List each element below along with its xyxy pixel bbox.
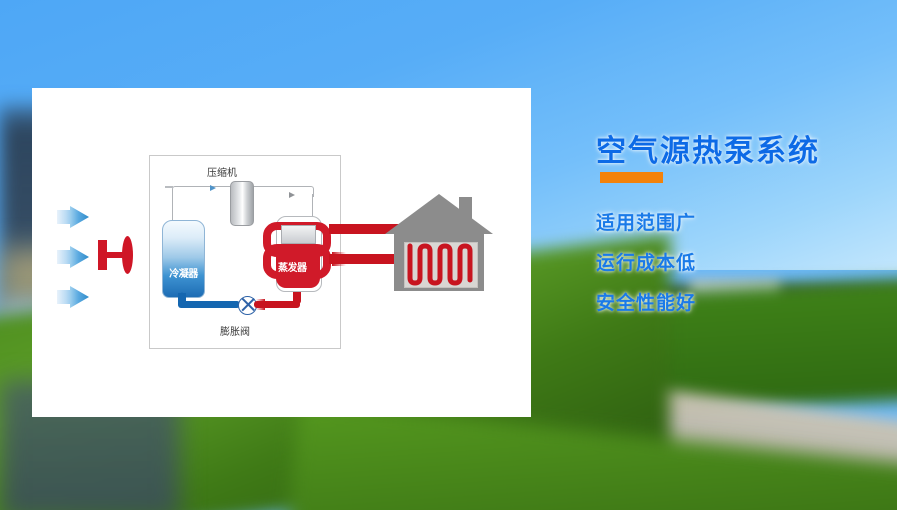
air-arrow-head	[70, 206, 89, 228]
condenser-label: 冷凝器	[163, 265, 204, 280]
evaporator-window	[281, 225, 316, 244]
feature-bullet-2: 运行成本低	[596, 248, 696, 275]
house-roof	[385, 194, 493, 234]
title-underline-rule	[600, 172, 663, 183]
house-graphic	[385, 194, 493, 292]
flow-arrow-right	[210, 185, 216, 191]
floor-heating-coil	[404, 242, 476, 286]
return-flow-arrow	[332, 252, 346, 266]
condenser-unit: 冷凝器	[162, 220, 205, 298]
pipe-left-down	[172, 194, 183, 223]
page-title: 空气源热泵系统	[596, 126, 820, 170]
vapour-flow-arrow	[256, 299, 265, 310]
air-arrow-head	[70, 286, 89, 308]
air-arrow-1	[57, 206, 89, 228]
duct-joint-left	[165, 186, 173, 188]
fan-blade	[122, 236, 133, 274]
flow-arrow-return	[289, 192, 295, 198]
air-arrow-2	[57, 246, 89, 268]
liquid-flow-arrow	[178, 292, 186, 298]
diagram-card: 压缩机 冷凝器	[32, 88, 531, 417]
compressor-label: 压缩机	[207, 164, 237, 179]
compressor-unit	[230, 181, 254, 226]
expansion-valve-label: 膨胀阀	[220, 323, 250, 338]
slide-canvas: 压缩机 冷凝器	[0, 0, 897, 510]
liquid-line-horizontal	[178, 301, 240, 308]
air-arrow-head	[70, 246, 89, 268]
air-arrow-3	[57, 286, 89, 308]
evaporator-label: 蒸发器	[278, 259, 307, 274]
house-chimney	[459, 197, 472, 230]
refrigeration-cycle-box: 压缩机 冷凝器	[149, 155, 341, 349]
feature-bullet-1: 适用范围广	[596, 208, 696, 235]
feature-bullet-3: 安全性能好	[596, 288, 696, 315]
